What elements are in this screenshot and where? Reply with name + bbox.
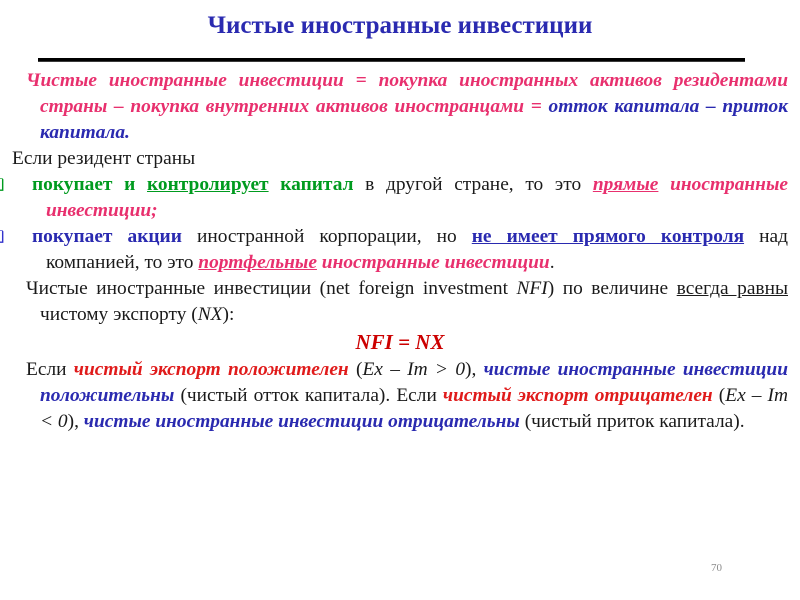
bullet1-seg2-underlined: контролирует [147,174,269,195]
bullet2-seg2: иностранной корпорации, но [197,226,472,247]
nx-abbrev: NX [198,304,223,325]
page-title: Чистые иностранные инвестиции [0,0,800,40]
bullet2-seg6: иностранные инвестиции [317,252,550,273]
bullet-square-icon: ❑ [18,226,32,247]
bullet1-seg3: капитал [269,174,354,195]
bullet-square-icon: ❑ [18,174,32,195]
nfi-seg5: чистому экспорту ( [40,304,198,325]
bullet2-seg3-underlined: не имеет прямого контроля [472,226,744,247]
bullet1-seg4: в другой стране, то это [353,174,592,195]
concl-seg9: ( [713,385,726,406]
concl-seg11: ), [68,411,84,432]
concl-seg8-red: чистый экспорт отрицателен [443,385,713,406]
slide-body: Чистые иностранные инвестиции = покупка … [12,68,788,435]
bullet1-seg5-underlined: прямые [593,174,659,195]
concl-seg3: ( [349,359,363,380]
nfi-seg4-underlined: всегда равны [677,278,788,299]
slide: Чистые иностранные инвестиции Чистые ино… [0,0,800,600]
formula-line: NFI = NX [12,328,788,357]
bullet2-seg1: покупает акции [32,226,197,247]
definition-paragraph: Чистые иностранные инвестиции = покупка … [12,68,788,146]
concl-seg1: Если [26,359,74,380]
nfi-abbrev: NFI [516,278,547,299]
nfi-seg1: Чистые иностранные инвестиции (net forei… [26,278,516,299]
concl-seg7: (чистый отток капитала). Если [174,385,443,406]
concl-seg13: (чистый приток капитала). [520,411,745,432]
bullet2-seg7: . [550,252,555,273]
concl-seg2-red: чистый экспорт положителен [74,359,349,380]
formula-nfi-equals-nx: NFI = NX [356,330,445,354]
nfi-seg7: ): [222,304,234,325]
bullet2-seg5-underlined: портфельные [198,252,317,273]
concl-seg4-italic: Ex – Im > 0 [362,359,465,380]
bullet-item-portfolio-investment: ❑покупает акции иностранной корпорации, … [12,224,788,276]
lead-in-text: Если резидент страны [12,146,788,172]
conclusion-paragraph: Если чистый экспорт положителен (Ex – Im… [12,357,788,435]
bullet1-seg1: покупает и [32,174,147,195]
page-number: 70 [711,562,722,574]
concl-seg12-blue: чистые иностранные инвестиции отрицатель… [84,411,520,432]
nfi-seg3: ) по величине [548,278,677,299]
nfi-paragraph: Чистые иностранные инвестиции (net forei… [12,276,788,328]
title-divider [38,58,745,62]
concl-seg5: ), [465,359,484,380]
bullet-item-direct-investment: ❑покупает и контролирует капитал в друго… [12,172,788,224]
